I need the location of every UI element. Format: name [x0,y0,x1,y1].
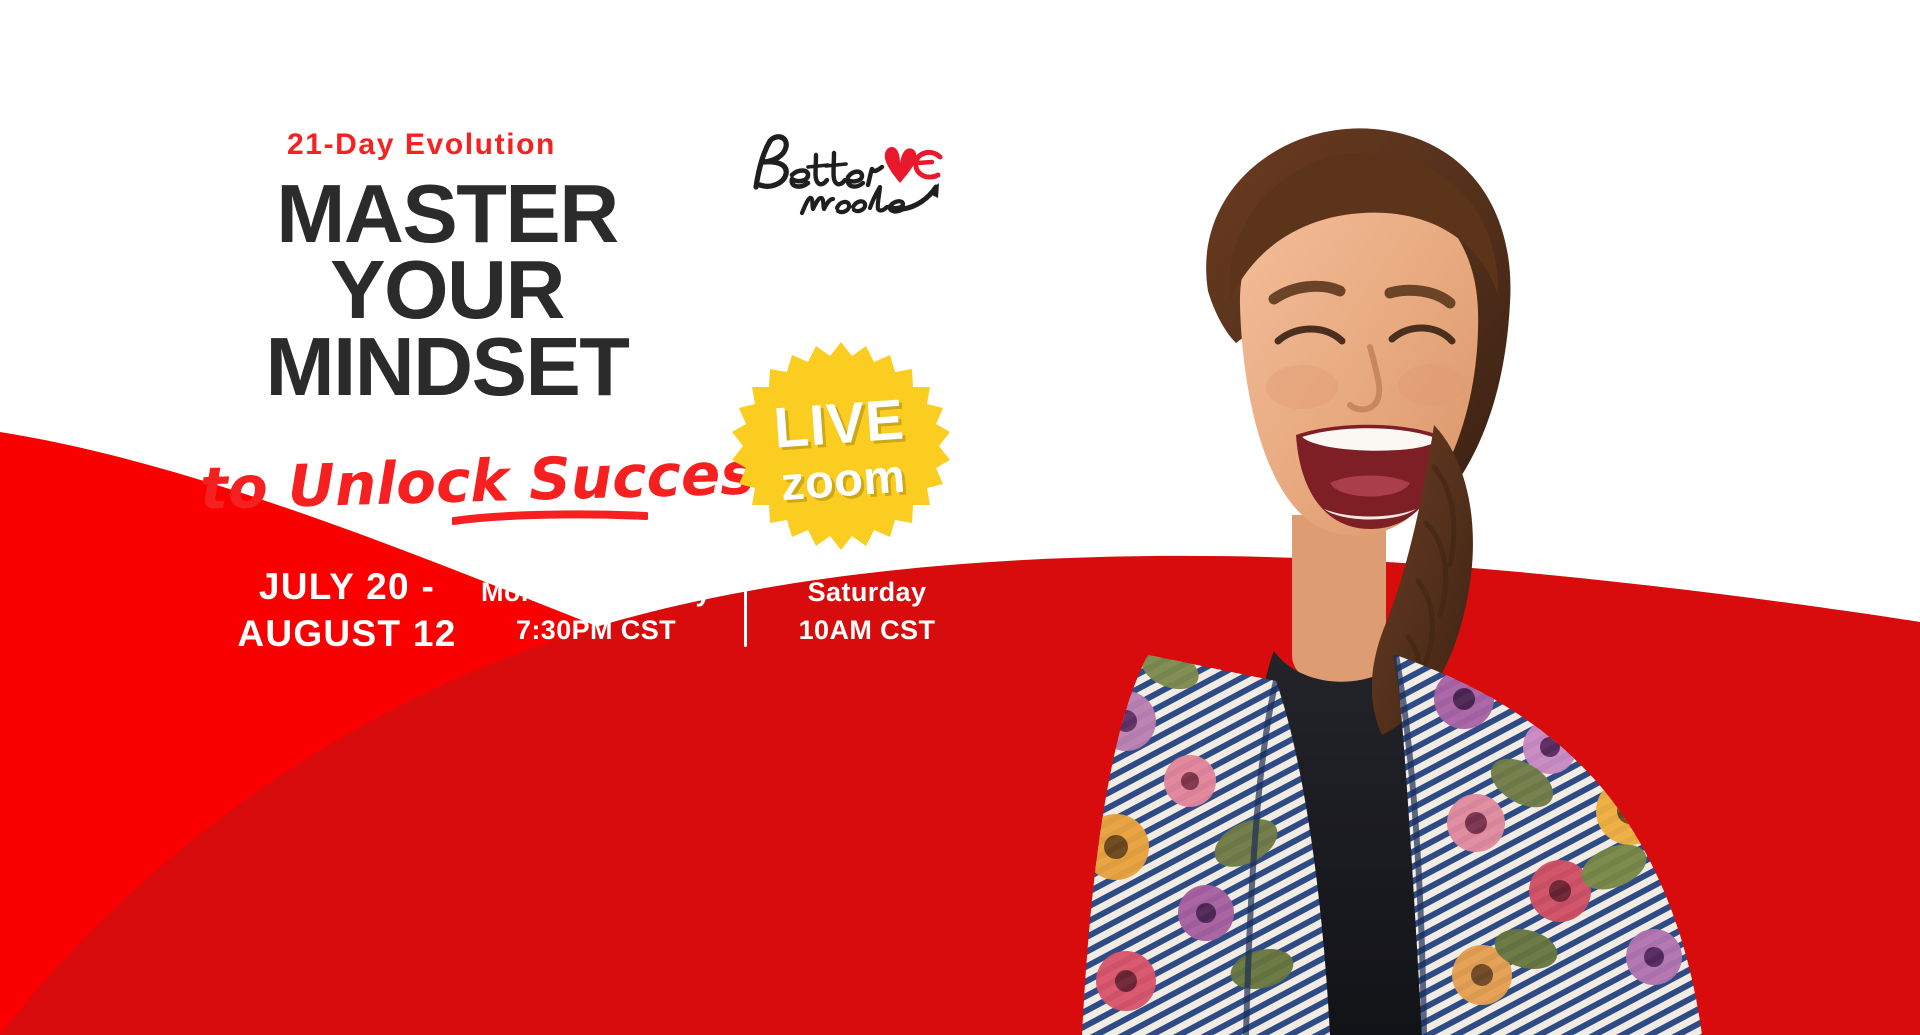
schedule-saturday-time: 10AM CST [769,611,965,649]
date-line-1: JULY 20 - [212,563,482,610]
jacket-right-panel [1380,635,1721,1035]
schedule-saturday-days: Saturday [769,573,965,611]
page-title: MASTER YOUR MINDSET [212,176,682,405]
heart-icon [885,147,917,183]
schedule-group: Monday to Friday 7:30PM CST Saturday 10A… [470,573,965,650]
headline-line-1: MASTER [212,176,682,252]
schedule-weekday-days: Monday to Friday [470,573,722,611]
neck [1292,515,1386,687]
date-line-2: AUGUST 12 [212,610,482,657]
headline-line-2: YOUR [212,252,682,328]
headline-line-3: MINDSET [212,329,682,405]
betterme-logo [740,125,950,220]
date-range: JULY 20 - AUGUST 12 [212,563,482,658]
cheek-right [1398,364,1466,406]
starburst-shape [732,342,950,550]
presenter-photo [1030,95,1730,1035]
promo-banner: 21-Day Evolution MASTER YOUR MINDSET to … [0,0,1920,1035]
schedule-divider [744,575,747,647]
schedule-weekday-time: 7:30PM CST [470,611,722,649]
schedule-weekday: Monday to Friday 7:30PM CST [470,573,722,650]
live-zoom-badge: LIVE zoom [731,340,951,560]
schedule-saturday: Saturday 10AM CST [769,573,965,650]
eyebrow-text: 21-Day Evolution [287,128,556,162]
cheek-left [1266,365,1338,409]
script-underline [452,510,648,526]
